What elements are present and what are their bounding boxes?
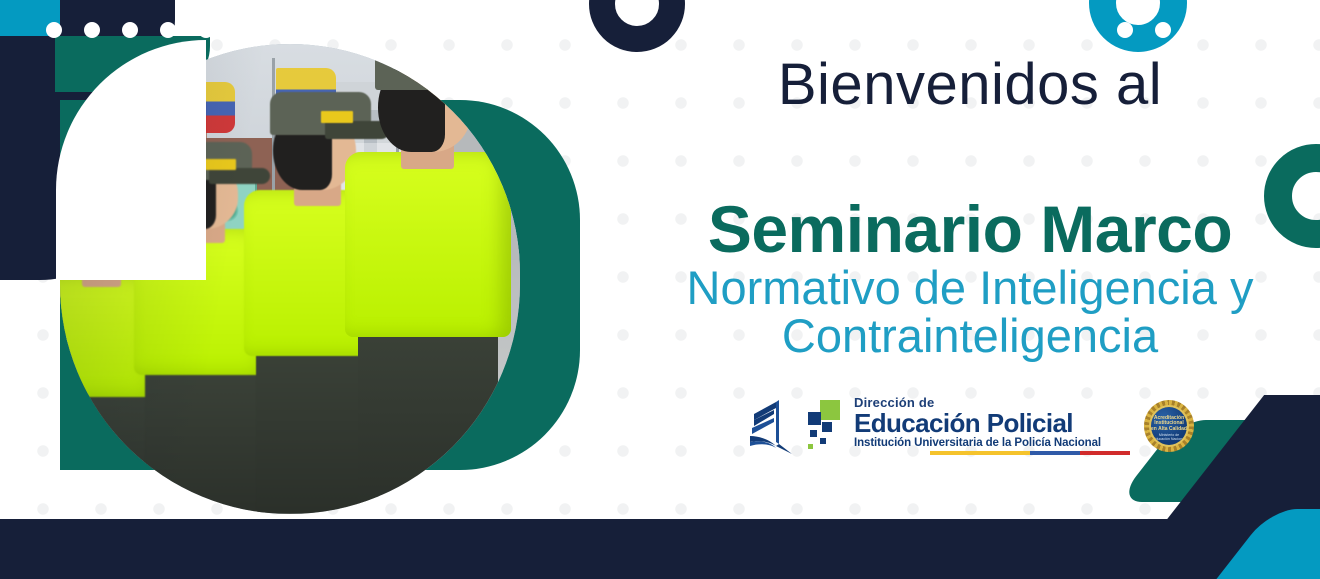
bottom-dot	[1193, 22, 1209, 38]
seal-inner-disc: Acreditación Institucional en Alta Calid…	[1149, 405, 1189, 447]
logo-text-block: Dirección de Educación Policial Instituc…	[854, 396, 1130, 456]
bottom-dot	[1079, 22, 1095, 38]
bottom-dot	[122, 22, 138, 38]
logo-line-educacion-policial: Educación Policial	[854, 410, 1130, 436]
bottom-dot	[1117, 22, 1133, 38]
bottom-dots-left	[46, 22, 252, 38]
bottom-dot	[1155, 22, 1171, 38]
bottom-dot	[1003, 22, 1019, 38]
seal-line-3: en Alta Calidad	[1151, 426, 1187, 432]
seminar-welcome-banner: Bienvenidos al Seminario Marco Normativo…	[0, 0, 1320, 579]
seminar-title-subtitle: Normativo de Inteligencia y Contrainteli…	[640, 264, 1300, 360]
seal-title: Acreditación Institucional en Alta Calid…	[1151, 416, 1187, 433]
bottom-dot	[160, 22, 176, 38]
welcome-heading: Bienvenidos al	[778, 56, 1162, 114]
logo-line-direccion: Dirección de	[854, 396, 1130, 409]
institutional-logo: Dirección de Educación Policial Instituc…	[746, 396, 1194, 456]
open-book-icon	[746, 398, 798, 454]
bottom-dot	[236, 22, 252, 38]
colombia-flag-bar	[930, 451, 1130, 455]
flag-stripe-yellow	[930, 451, 1030, 455]
flag-stripe-red	[1080, 451, 1130, 455]
bottom-bar	[0, 519, 1320, 579]
bottom-dots-right	[1003, 22, 1209, 38]
bottom-dot	[198, 22, 214, 38]
logo-line-institucion: Institución Universitaria de la Policía …	[854, 438, 1130, 450]
flag-stripe-blue	[1030, 451, 1080, 455]
bottom-dot	[46, 22, 62, 38]
banner-content: Bienvenidos al Seminario Marco Normativo…	[620, 0, 1320, 519]
bottom-dot	[84, 22, 100, 38]
bottom-dot	[1041, 22, 1057, 38]
accreditation-seal-icon: Acreditación Institucional en Alta Calid…	[1144, 400, 1194, 452]
seminar-title-main: Seminario Marco	[708, 196, 1232, 262]
seal-subtitle: Ministerio de Educación Nacional	[1151, 433, 1187, 442]
pixel-squares-icon	[806, 400, 846, 452]
